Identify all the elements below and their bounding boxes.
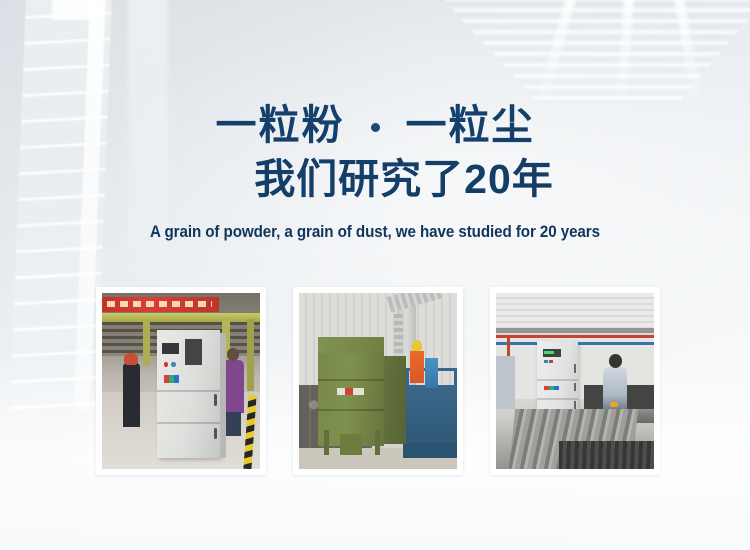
photo-gallery	[96, 287, 660, 475]
headline-phrase-left: 一粒粉	[216, 104, 345, 147]
photo1-tint	[102, 293, 260, 469]
background-rack-top	[52, 0, 100, 20]
photo-dust-collector-gray-factory	[102, 293, 260, 469]
headline-block: 一粒粉 一粒尘 我们研究了20年 A grain of powder, a gr…	[0, 104, 750, 242]
photo-frame-2[interactable]	[293, 287, 463, 475]
headline-phrase-right: 一粒尘	[406, 104, 535, 147]
background-beam	[674, 0, 705, 114]
photo3-tint	[496, 293, 654, 469]
background-beam	[534, 0, 577, 113]
subtitle-text: A grain of powder, a grain of dust, we h…	[30, 223, 720, 242]
background-beam	[616, 0, 634, 114]
photo2-tint	[299, 293, 457, 469]
background-ceiling	[440, 0, 750, 104]
photo-frame-1[interactable]	[96, 287, 266, 475]
promo-banner: 一粒粉 一粒尘 我们研究了20年 A grain of powder, a gr…	[0, 0, 750, 550]
separator-dot-icon	[371, 123, 380, 132]
headline-line-1: 一粒粉 一粒尘	[0, 104, 750, 147]
photo-dust-collector-workshop	[496, 293, 654, 469]
headline-line-2: 我们研究了20年	[0, 158, 750, 201]
photo-dust-collector-green-hall	[299, 293, 457, 469]
photo-frame-3[interactable]	[490, 287, 660, 475]
